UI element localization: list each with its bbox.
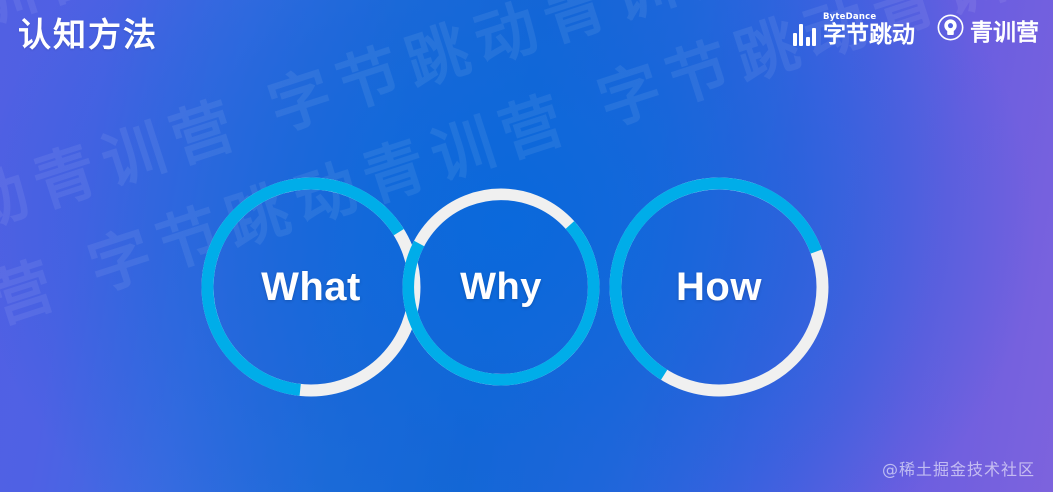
- ring-how[interactable]: How: [604, 172, 834, 402]
- ring-why-label: Why: [398, 184, 604, 390]
- qingxunying-logo: 青训营: [937, 13, 1039, 47]
- bytedance-logo: ByteDance 字节跳动: [793, 13, 916, 47]
- bytedance-logo-text: ByteDance 字节跳动: [823, 13, 915, 47]
- qxy-circle-icon: [937, 14, 964, 46]
- page-title: 认知方法: [18, 8, 158, 56]
- bar-chart-icon: [793, 22, 817, 46]
- ring-diagram: What Why How: [196, 172, 856, 412]
- qingxunying-logo-cn: 青训营: [970, 13, 1039, 47]
- bytedance-logo-en: ByteDance: [823, 13, 915, 22]
- ring-why[interactable]: Why: [398, 184, 604, 390]
- ring-what[interactable]: What: [196, 172, 426, 402]
- slide-root: 字节跳动青训营 字节跳动青训营 字节跳动青训营 字节跳动青训营 字节跳动青训营 …: [0, 0, 1053, 492]
- slide-header: 认知方法 ByteDance 字节跳动: [0, 0, 1053, 62]
- logo-group: ByteDance 字节跳动 青训营: [793, 13, 1040, 47]
- community-watermark: @稀土掘金技术社区: [882, 456, 1035, 480]
- bytedance-logo-cn: 字节跳动: [823, 24, 915, 47]
- ring-how-label: How: [604, 172, 834, 402]
- ring-what-label: What: [196, 172, 426, 402]
